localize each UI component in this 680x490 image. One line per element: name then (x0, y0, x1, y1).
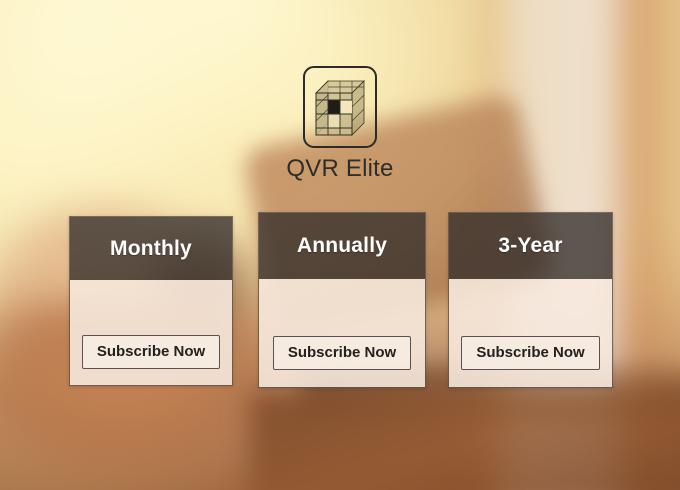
subscribe-button-annually[interactable]: Subscribe Now (273, 336, 411, 371)
subscribe-button-3year[interactable]: Subscribe Now (461, 336, 599, 371)
plan-card-annually[interactable]: Annually Subscribe Now (258, 212, 426, 388)
plan-card-body-monthly: Subscribe Now (70, 280, 232, 385)
plan-card-header-annually: Annually (259, 213, 425, 279)
app-header: QVR Elite (0, 66, 680, 181)
app-title: QVR Elite (0, 157, 680, 181)
plan-card-header-3year: 3-Year (449, 213, 612, 279)
plan-title-monthly: Monthly (110, 237, 192, 261)
plan-card-monthly[interactable]: Monthly Subscribe Now (69, 216, 233, 386)
subscribe-button-monthly[interactable]: Subscribe Now (82, 335, 220, 370)
plan-card-body-3year: Subscribe Now (449, 279, 612, 387)
plan-card-body-annually: Subscribe Now (259, 279, 425, 387)
plan-card-3year[interactable]: 3-Year Subscribe Now (448, 212, 613, 388)
plan-title-3year: 3-Year (498, 234, 562, 258)
qvr-elite-cube-icon (314, 79, 370, 137)
plan-title-annually: Annually (297, 234, 387, 258)
subscription-plans-screen: QVR Elite Monthly Subscribe Now Annually… (0, 0, 680, 490)
app-icon-frame[interactable] (303, 66, 377, 148)
background-blur-shape-wood-desk (250, 392, 680, 490)
plan-card-header-monthly: Monthly (70, 217, 232, 280)
